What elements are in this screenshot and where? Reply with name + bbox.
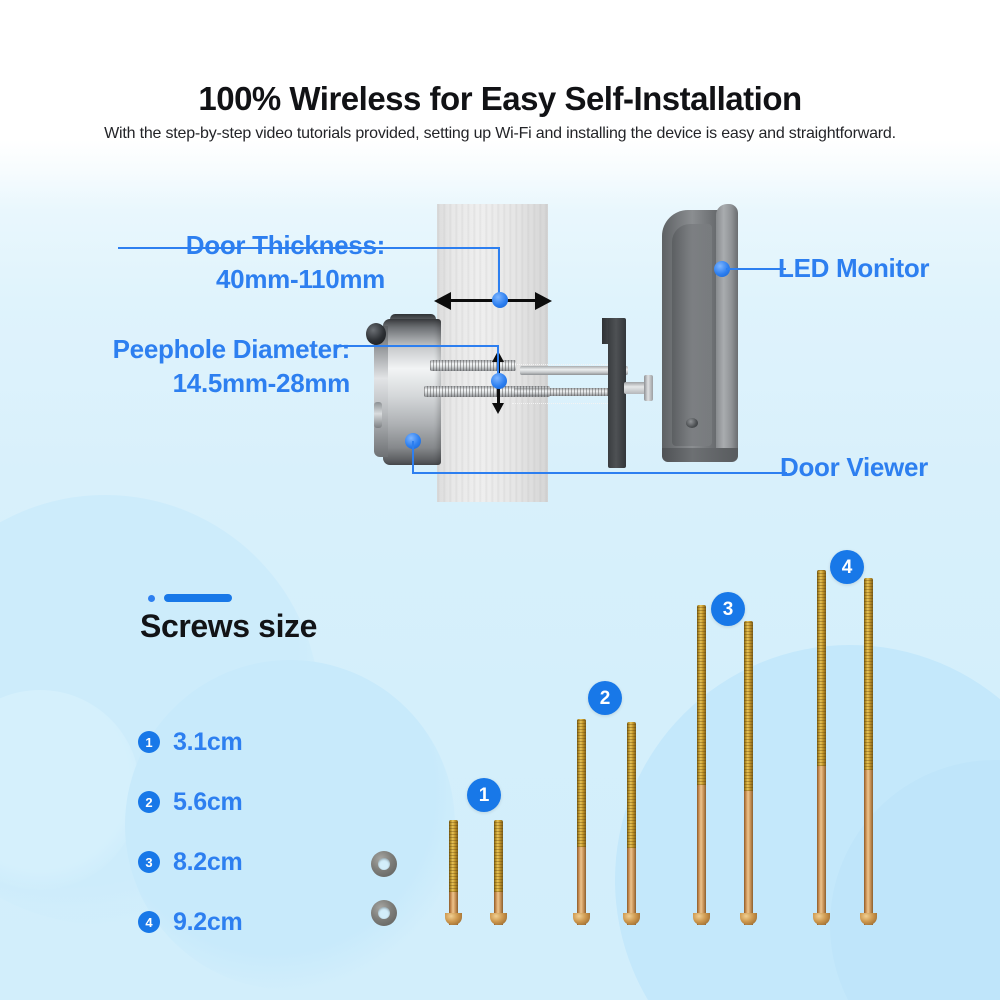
screw-head <box>740 913 757 925</box>
legend-item: 2 5.6cm <box>138 772 242 832</box>
screw-thread <box>744 621 753 791</box>
led-monitor-base <box>662 448 738 462</box>
legend-item: 3 8.2cm <box>138 832 242 892</box>
legend-badge-4: 4 <box>138 911 160 933</box>
screw-part-1a <box>449 820 458 925</box>
background-circle-decoration <box>0 690 140 890</box>
screw-shank <box>744 791 753 925</box>
door-viewer-notch <box>374 402 382 428</box>
callout-label-door-thickness: Door Thickness: 40mm-110mm <box>40 228 385 296</box>
screw-thread <box>449 820 458 892</box>
screw-shank <box>697 785 706 925</box>
eyebrow-dash-icon <box>164 594 232 602</box>
background-circle-decoration <box>615 645 1000 1000</box>
eyebrow-dot-icon <box>148 595 155 602</box>
door-thickness-label: Door Thickness: <box>40 228 385 262</box>
washer-part <box>371 900 397 926</box>
screw-part-3a <box>697 605 706 925</box>
washer-part <box>371 851 397 877</box>
led-monitor-port <box>686 418 698 428</box>
legend-length-2: 5.6cm <box>173 788 242 817</box>
threaded-rod <box>514 388 620 396</box>
peephole-diameter-value: 14.5mm-28mm <box>20 366 350 400</box>
screw-part-1b <box>494 820 503 925</box>
legend-length-3: 8.2cm <box>173 848 242 877</box>
screw-thread <box>697 605 706 785</box>
screw-thread <box>864 578 873 770</box>
peephole-callout-dot <box>491 373 507 389</box>
door-thickness-callout-dot <box>492 292 508 308</box>
legend-item: 1 3.1cm <box>138 712 242 772</box>
screw-thread <box>817 570 826 766</box>
screw-shank <box>817 766 826 925</box>
legend-length-1: 3.1cm <box>173 728 242 757</box>
door-viewer-callout-line <box>412 472 787 474</box>
screw-badge-4: 4 <box>830 550 864 584</box>
legend-badge-3: 3 <box>138 851 160 873</box>
door-thickness-arrow-head-left <box>434 292 451 310</box>
screw-thread <box>494 820 503 892</box>
bracket-screw-head <box>644 375 653 401</box>
screw-head <box>573 913 590 925</box>
door-viewer-callout-line <box>412 441 414 474</box>
legend-item: 4 9.2cm <box>138 892 242 952</box>
page-title: 100% Wireless for Easy Self-Installation <box>0 80 1000 118</box>
door-thickness-value: 40mm-110mm <box>40 262 385 296</box>
callout-label-led-monitor: LED Monitor <box>778 253 929 284</box>
screw-part-2b <box>627 722 636 925</box>
screw-head <box>693 913 710 925</box>
screw-shank <box>864 770 873 925</box>
screws-legend: 1 3.1cm 2 5.6cm 3 8.2cm 4 9.2cm <box>138 712 242 952</box>
callout-label-peephole-diameter: Peephole Diameter: 14.5mm-28mm <box>20 332 350 400</box>
screw-part-4b <box>864 578 873 925</box>
led-monitor-face <box>672 224 712 446</box>
screw-part-3b <box>744 621 753 925</box>
callout-label-door-viewer: Door Viewer <box>780 452 928 483</box>
screw-head <box>813 913 830 925</box>
screws-section-title: Screws size <box>140 608 317 645</box>
page-subtitle: With the step-by-step video tutorials pr… <box>0 125 1000 143</box>
screw-thread <box>627 722 636 848</box>
peephole-arrow-head-down <box>492 403 504 414</box>
background-circle-decoration <box>830 760 1000 1000</box>
screw-part-4a <box>817 570 826 925</box>
led-monitor-callout-line <box>726 268 786 270</box>
camera-lens-icon <box>366 323 386 345</box>
screw-badge-2: 2 <box>588 681 622 715</box>
legend-length-4: 9.2cm <box>173 908 242 937</box>
legend-badge-1: 1 <box>138 731 160 753</box>
screw-part-2a <box>577 719 586 925</box>
led-monitor-edge <box>716 204 738 462</box>
screw-head <box>860 913 877 925</box>
screw-head <box>445 913 462 925</box>
screw-badge-1: 1 <box>467 778 501 812</box>
door-thickness-arrow-head-right <box>535 292 552 310</box>
infographic-canvas: 100% Wireless for Easy Self-Installation… <box>0 0 1000 1000</box>
peephole-callout-line <box>336 345 499 347</box>
screw-badge-3: 3 <box>711 592 745 626</box>
screw-thread <box>577 719 586 847</box>
screws-section-eyebrow <box>148 594 232 602</box>
peephole-diameter-label: Peephole Diameter: <box>20 332 350 366</box>
screw-head <box>490 913 507 925</box>
legend-badge-2: 2 <box>138 791 160 813</box>
screw-head <box>623 913 640 925</box>
